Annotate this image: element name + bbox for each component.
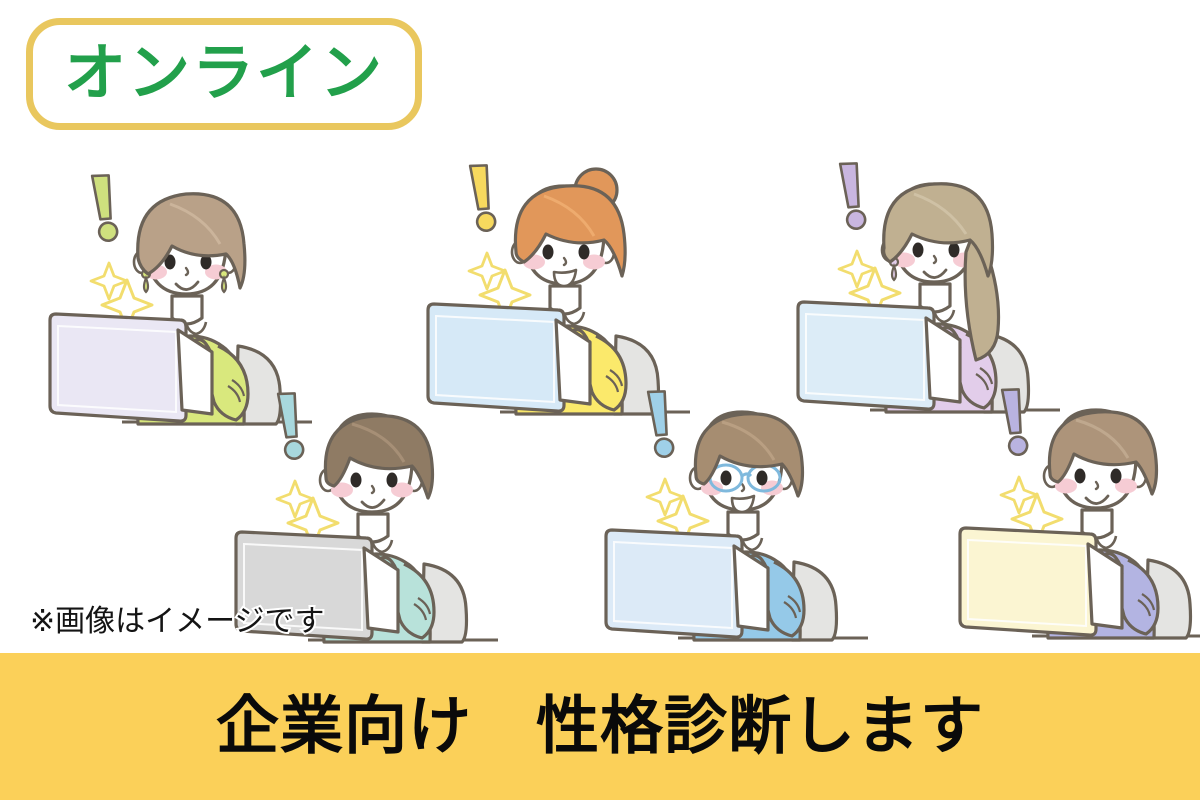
eye-right [757,471,768,486]
illustration-person-5 [598,366,898,666]
disclaimer-text: ※画像はイメージです [30,596,325,640]
eye-left [543,245,554,260]
illustration-person-6 [952,364,1200,664]
eye-left [721,471,732,486]
laptop [50,314,212,421]
exclamation-icon [84,172,126,243]
exclamation-icon [832,160,874,231]
poster-canvas: オンライン [0,0,1200,800]
exclamation-icon [270,390,312,461]
exclamation-icon [462,162,504,233]
eye-left [351,473,362,488]
online-badge: オンライン [26,18,422,130]
laptop [606,530,768,637]
eye-right [387,473,398,488]
online-badge-label: オンライン [33,43,415,105]
exclamation-icon [994,386,1036,457]
exclamation-icon [640,388,682,459]
eye-left [913,243,924,258]
bottom-banner: 企業向け 性格診断します [0,653,1200,800]
bottom-banner-headline: 企業向け 性格診断します [0,695,1200,758]
eye-right [1111,469,1122,484]
eye-right [579,245,590,260]
laptop [960,528,1122,635]
eye-right [949,243,960,258]
eye-left [1075,469,1086,484]
